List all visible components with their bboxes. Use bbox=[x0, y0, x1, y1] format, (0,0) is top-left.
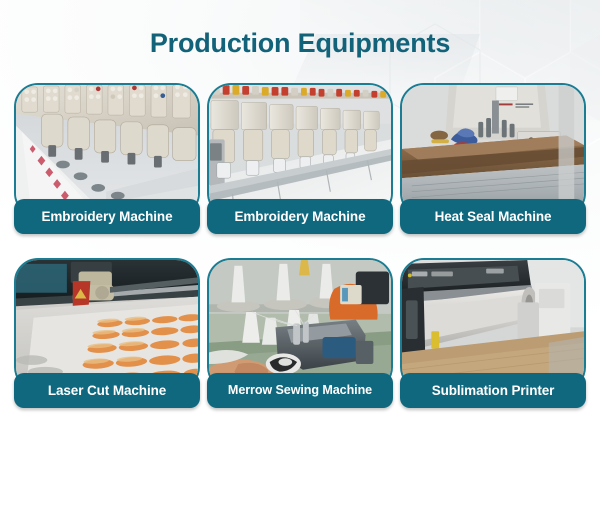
equipment-card[interactable]: Embroidery Machine bbox=[14, 83, 200, 234]
equipment-card[interactable]: Heat Seal Machine bbox=[400, 83, 586, 234]
equipment-label: Merrow Sewing Machine bbox=[207, 373, 393, 408]
equipment-label: Sublimation Printer bbox=[400, 373, 586, 408]
equipment-card[interactable]: Sublimation Printer bbox=[400, 258, 586, 408]
equipment-label: Embroidery Machine bbox=[14, 199, 200, 234]
heat-seal-machine-photo bbox=[400, 83, 586, 217]
equipment-card[interactable]: Embroidery Machine bbox=[207, 83, 393, 234]
production-equipments-page: Production Equipments bbox=[0, 0, 600, 517]
page-title: Production Equipments bbox=[0, 0, 600, 59]
sublimation-printer-photo bbox=[400, 258, 586, 391]
equipment-gallery-row-bottom: Laser Cut Machine bbox=[0, 258, 600, 408]
equipment-label: Heat Seal Machine bbox=[400, 199, 586, 234]
embroidery-machine-longline-photo bbox=[207, 83, 393, 217]
equipment-card[interactable]: Laser Cut Machine bbox=[14, 258, 200, 408]
equipment-label: Laser Cut Machine bbox=[14, 373, 200, 408]
embroidery-machine-multihead-photo bbox=[14, 83, 200, 217]
laser-cut-machine-photo bbox=[14, 258, 200, 391]
equipment-label: Embroidery Machine bbox=[207, 199, 393, 234]
equipment-card[interactable]: Merrow Sewing Machine bbox=[207, 258, 393, 408]
equipment-gallery-row-top: Embroidery Machine bbox=[0, 83, 600, 234]
merrow-sewing-machine-photo bbox=[207, 258, 393, 391]
